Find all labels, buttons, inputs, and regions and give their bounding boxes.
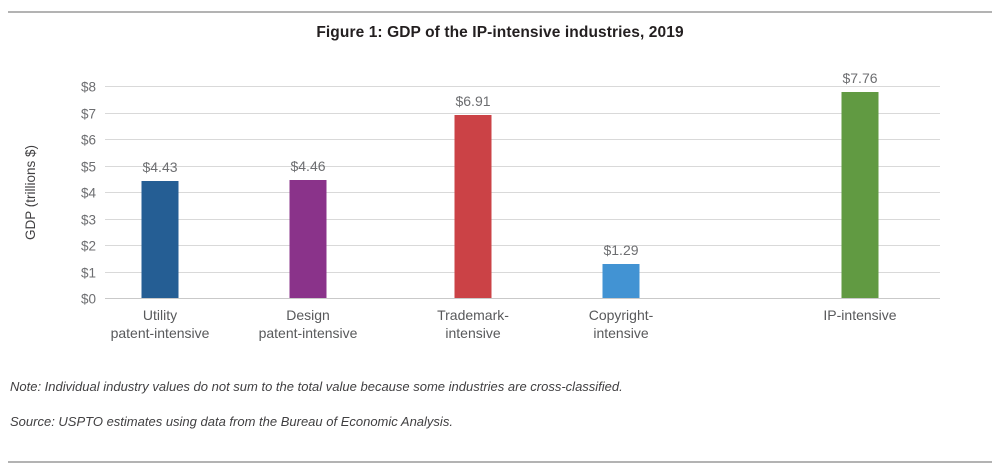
- y-axis-tick-label: $2: [81, 239, 96, 254]
- x-axis-baseline: $0: [105, 298, 940, 299]
- figure-source: Source: USPTO estimates using data from …: [10, 414, 453, 429]
- category-label-line: patent-intensive: [111, 324, 210, 342]
- y-axis-tick-label: $6: [81, 133, 96, 148]
- gridline: $1: [105, 272, 940, 273]
- bar-value-label: $7.76: [842, 70, 877, 86]
- bar: $1.29: [603, 264, 640, 298]
- bar-value-label: $4.46: [290, 158, 325, 174]
- category-label-line: patent-intensive: [259, 324, 358, 342]
- bar-value-label: $1.29: [603, 242, 638, 258]
- bar-value-label: $6.91: [455, 93, 490, 109]
- gridline: $4: [105, 192, 940, 193]
- category-label-line: Design: [259, 306, 358, 324]
- category-label-line: intensive: [589, 324, 654, 342]
- category-label-line: Copyright-: [589, 306, 654, 324]
- plot-area: $8$7$6$5$4$3$2$1$0$4.43$4.46$6.91$1.29$7…: [105, 86, 940, 298]
- category-label-line: IP-intensive: [823, 306, 896, 324]
- gridline: $7: [105, 113, 940, 114]
- category-label-line: Trademark-: [437, 306, 509, 324]
- figure-note: Note: Individual industry values do not …: [10, 379, 623, 394]
- gridline: $2: [105, 245, 940, 246]
- gridline: $5: [105, 166, 940, 167]
- y-axis-tick-label: $1: [81, 265, 96, 280]
- y-axis-title: GDP (trillions $): [22, 86, 40, 298]
- y-axis-tick-label: $8: [81, 80, 96, 95]
- bar: $7.76: [842, 92, 879, 298]
- bottom-divider-rule: [8, 461, 992, 463]
- bar: $4.43: [142, 181, 179, 298]
- category-label-line: Utility: [111, 306, 210, 324]
- x-axis-category-label: Trademark-intensive: [437, 306, 509, 342]
- bar: $6.91: [455, 115, 492, 298]
- figure-container: Figure 1: GDP of the IP-intensive indust…: [0, 0, 1000, 469]
- x-axis-category-label: Utilitypatent-intensive: [111, 306, 210, 342]
- top-divider-rule: [8, 11, 992, 13]
- bar: $4.46: [290, 180, 327, 298]
- y-axis-title-text: GDP (trillions $): [24, 144, 39, 239]
- x-axis-category-label: IP-intensive: [823, 306, 896, 324]
- y-axis-tick-label: $3: [81, 212, 96, 227]
- y-axis-tick-label: $0: [81, 292, 96, 307]
- chart-title: Figure 1: GDP of the IP-intensive indust…: [0, 24, 1000, 42]
- x-axis-category-label: Copyright-intensive: [589, 306, 654, 342]
- y-axis-tick-label: $7: [81, 106, 96, 121]
- gridline: $3: [105, 219, 940, 220]
- y-axis-tick-label: $4: [81, 186, 96, 201]
- gridline: $8: [105, 86, 940, 87]
- y-axis-tick-label: $5: [81, 159, 96, 174]
- x-axis-category-label: Designpatent-intensive: [259, 306, 358, 342]
- gridline: $6: [105, 139, 940, 140]
- bar-value-label: $4.43: [142, 159, 177, 175]
- category-label-line: intensive: [437, 324, 509, 342]
